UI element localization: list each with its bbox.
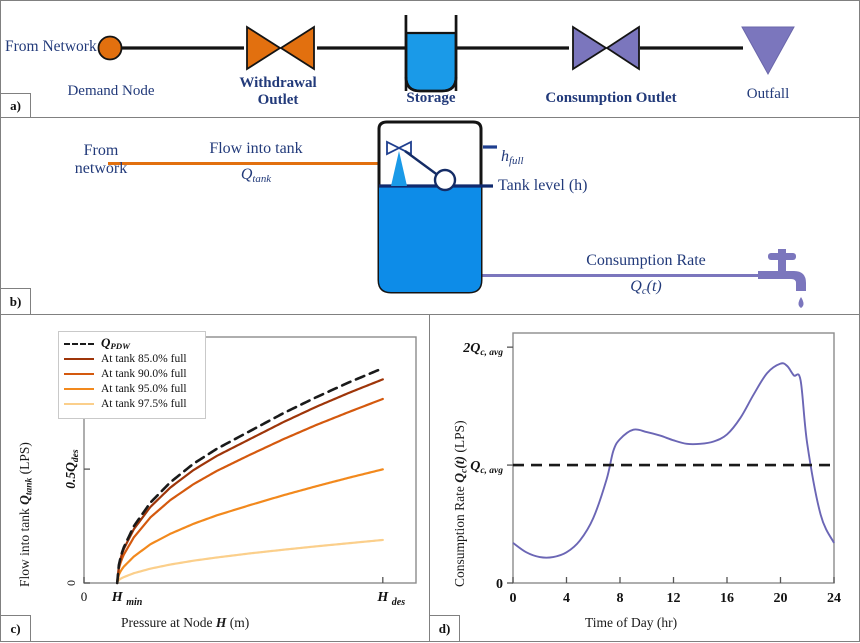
panel-label-a: a): [0, 93, 31, 118]
flow-into-tank-text: Flow into tank: [209, 140, 302, 157]
storage-tank-air-gap: [406, 15, 456, 33]
panel-label-c: c): [0, 615, 31, 642]
chart-c-legend-item: QPDW: [59, 336, 205, 351]
chart-c-legend-swatch: [64, 373, 94, 375]
chart-c-legend-label: At tank 90.0% full: [101, 368, 187, 380]
panel-d-chart: 048121620240Qc, avg2Qc, avg Consumption …: [429, 314, 860, 642]
chart-d-xticklabel: 0: [510, 591, 517, 606]
chart-c-series-tank-97.5: [117, 540, 383, 583]
chart-c-legend: QPDWAt tank 85.0% fullAt tank 90.0% full…: [58, 331, 206, 419]
from-network-line1: From: [84, 142, 119, 159]
from-network-label-a: From Network: [5, 38, 103, 55]
svg-text:0: 0: [64, 580, 78, 586]
chart-d-ylabel: Consumption Rate Qc(t) (LPS): [452, 420, 469, 587]
chart-c-ylabel-pre: Flow into tank: [17, 505, 32, 587]
consumption-outlet-label: Consumption Outlet: [526, 90, 696, 107]
q-tank-symbol: Q: [241, 166, 253, 183]
chart-d-ylabel-sub: c: [459, 469, 469, 473]
chart-c-ylabel-sub: tank: [24, 478, 34, 495]
chart-d-yticklabel: 0: [496, 577, 503, 592]
qc-argument: (t): [647, 278, 662, 295]
h-full-subscript: full: [509, 155, 524, 167]
chart-c-legend-item: At tank 97.5% full: [59, 396, 205, 411]
h-full-symbol: h: [501, 148, 509, 165]
withdrawal-outlet-label-line1: Withdrawal: [239, 75, 316, 91]
withdrawal-valve-right-icon: [281, 27, 314, 69]
chart-c-series-tank-95: [117, 469, 383, 583]
chart-d-ylabel-pre: Consumption Rate: [452, 483, 467, 587]
chart-d-xticklabel: 16: [720, 591, 734, 606]
chart-c-xticklabel-sub: min: [126, 597, 143, 608]
storage-label: Storage: [381, 90, 481, 107]
chart-c-series-tank-90: [117, 399, 383, 583]
faucet-icon: [758, 245, 828, 315]
chart-d-xticklabel: 20: [774, 591, 788, 606]
chart-c-legend-label: At tank 95.0% full: [101, 383, 187, 395]
consumption-rate-symbol: Qc(t): [546, 278, 746, 298]
chart-c-legend-swatch: [64, 403, 94, 405]
chart-c-xticklabel: H: [111, 590, 124, 605]
consumption-pattern-chart: 048121620240Qc, avg2Qc, avg: [430, 315, 860, 643]
chart-c-ylabel-sym: Q: [17, 495, 32, 505]
flow-into-tank-label: Flow into tank: [161, 140, 351, 158]
chart-c-legend-item: At tank 85.0% full: [59, 351, 205, 366]
tank-level-label: Tank level (h): [498, 177, 678, 195]
chart-d-xlabel: Time of Day (hr): [585, 615, 677, 631]
flow-into-tank-symbol: Qtank: [161, 166, 351, 186]
chart-c-xlabel-post: (m): [226, 615, 249, 630]
withdrawal-outlet-label: Withdrawal Outlet: [213, 75, 343, 109]
chart-d-xticklabel: 12: [667, 591, 681, 606]
chart-c-legend-item: At tank 95.0% full: [59, 381, 205, 396]
chart-c-yticklabel: 0: [64, 580, 78, 586]
panel-label-b: b): [0, 288, 31, 315]
consumption-valve-left-icon: [573, 27, 606, 69]
chart-d-xticklabel: 24: [827, 591, 841, 606]
chart-c-ylabel-post: (LPS): [17, 442, 32, 478]
chart-c-ylabel: Flow into tank Qtank (LPS): [17, 442, 34, 587]
chart-c-legend-swatch: [64, 358, 94, 360]
chart-c-xticklabel-sub: des: [392, 597, 405, 608]
consumption-rate-label: Consumption Rate: [546, 252, 746, 270]
panel-a-schematic: From Network Demand Node Withdrawal Outl…: [0, 0, 860, 118]
chart-d-ylabel-arg: (t): [452, 456, 467, 469]
chart-d-ylabel-post: (LPS): [452, 420, 467, 456]
chart-d-yticklabel: Qc, avg: [470, 459, 503, 476]
chart-c-xlabel-pre: Pressure at Node: [121, 615, 216, 630]
chart-c-yticklabel: 0.5Qdes: [63, 449, 81, 489]
from-network-line2: network: [75, 160, 127, 177]
tank-water-fill: [379, 186, 481, 292]
chart-d-xticklabel: 8: [617, 591, 624, 606]
from-network-label-b: From network: [31, 142, 171, 179]
withdrawal-valve-left-icon: [247, 27, 280, 69]
chart-d-xticklabel: 4: [563, 591, 570, 606]
chart-d-plot-frame: [513, 333, 834, 583]
chart-c-legend-label: QPDW: [101, 335, 130, 351]
chart-d-yticklabel: 2Qc, avg: [462, 341, 503, 358]
float-ball-icon: [435, 170, 455, 190]
figure-root: From Network Demand Node Withdrawal Outl…: [0, 0, 860, 642]
demand-node-label: Demand Node: [46, 83, 176, 100]
chart-c-xticklabel: 0: [81, 589, 88, 604]
chart-c-legend-label: At tank 97.5% full: [101, 398, 187, 410]
outfall-triangle-icon: [742, 27, 794, 74]
chart-c-xlabel: Pressure at Node H (m): [121, 615, 249, 631]
chart-c-legend-swatch: [64, 343, 94, 345]
panel-b-tank-detail: From network Flow into tank Qtank hfull …: [0, 117, 860, 315]
panel-label-d: d): [429, 615, 460, 642]
chart-c-legend-label: At tank 85.0% full: [101, 353, 187, 365]
chart-c-legend-item: At tank 90.0% full: [59, 366, 205, 381]
svg-text:0.5Qdes: 0.5Qdes: [63, 449, 81, 489]
consumption-valve-right-icon: [607, 27, 639, 69]
chart-d-ylabel-sym: Q: [452, 473, 467, 483]
chart-c-legend-swatch: [64, 388, 94, 390]
withdrawal-outlet-label-line2: Outlet: [258, 92, 299, 108]
h-full-label: hfull: [501, 148, 591, 168]
outfall-label: Outfall: [728, 86, 808, 103]
chart-c-xticklabel: H: [376, 590, 389, 605]
q-tank-subscript: tank: [252, 173, 271, 185]
chart-d-series-consumption-rate: [513, 363, 834, 557]
panel-c-chart: 0HminHdes00.5QdesQdes Flow into tank Qta…: [0, 314, 430, 642]
qc-symbol: Q: [630, 278, 642, 295]
chart-c-xlabel-sym: H: [216, 615, 227, 630]
